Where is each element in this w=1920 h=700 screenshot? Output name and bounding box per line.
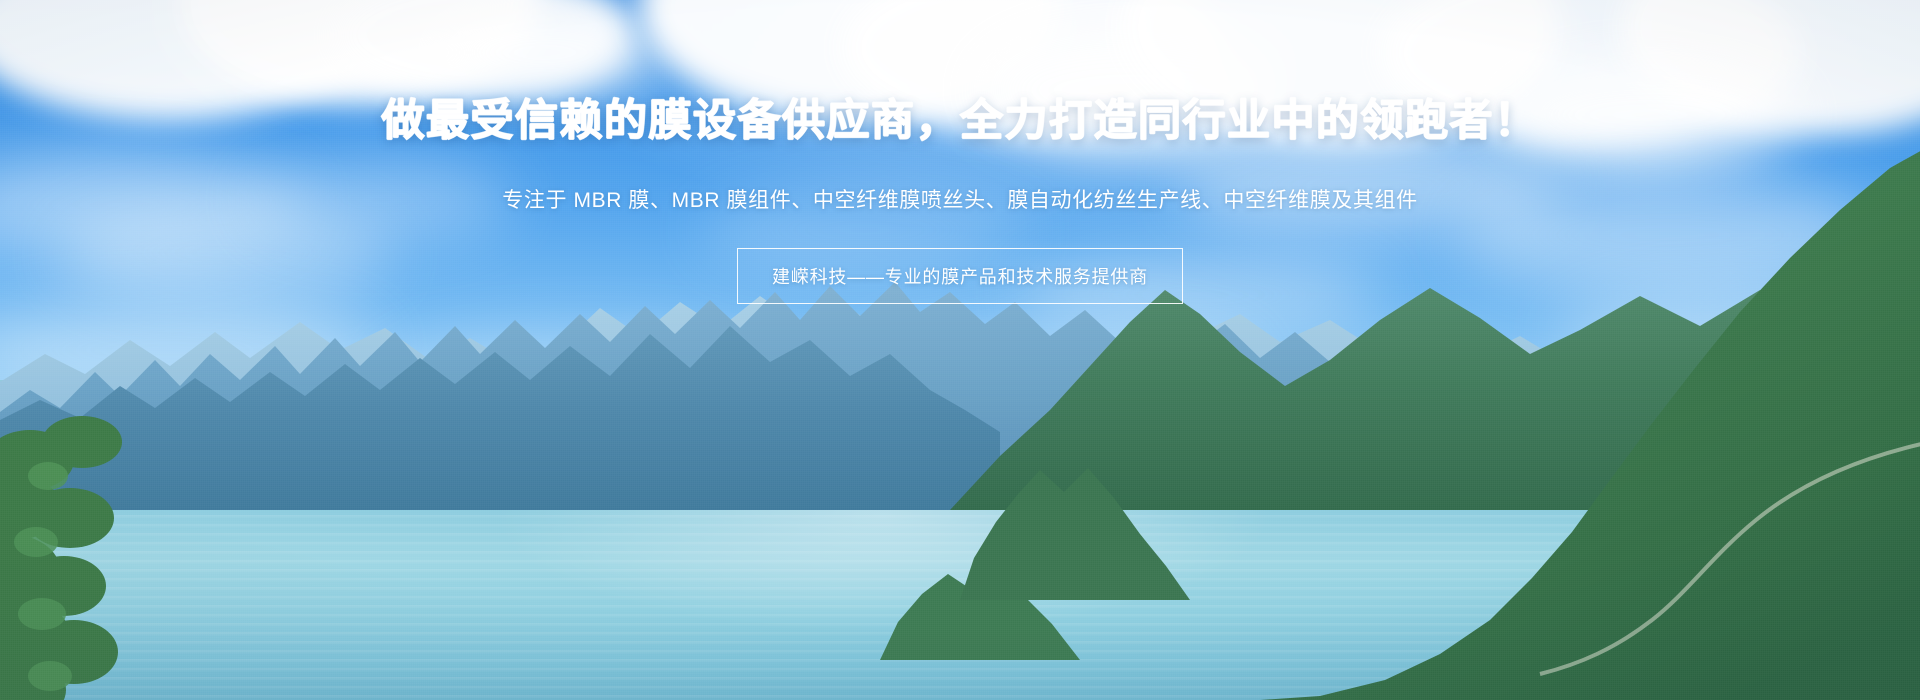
banner-headline: 做最受信赖的膜设备供应商，全力打造同行业中的领跑者！	[0, 96, 1920, 147]
hero-banner: 做最受信赖的膜设备供应商，全力打造同行业中的领跑者！ 专注于 MBR 膜、MBR…	[0, 0, 1920, 700]
banner-content: 做最受信赖的膜设备供应商，全力打造同行业中的领跑者！ 专注于 MBR 膜、MBR…	[0, 0, 1920, 304]
island-large	[960, 450, 1190, 600]
banner-subtitle: 专注于 MBR 膜、MBR 膜组件、中空纤维膜喷丝头、膜自动化纺丝生产线、中空纤…	[0, 185, 1920, 217]
foreground-tree-left	[0, 400, 220, 700]
banner-tagline-wrap: 建嵘科技——专业的膜产品和技术服务提供商	[0, 248, 1920, 304]
banner-tagline-box: 建嵘科技——专业的膜产品和技术服务提供商	[737, 248, 1183, 304]
